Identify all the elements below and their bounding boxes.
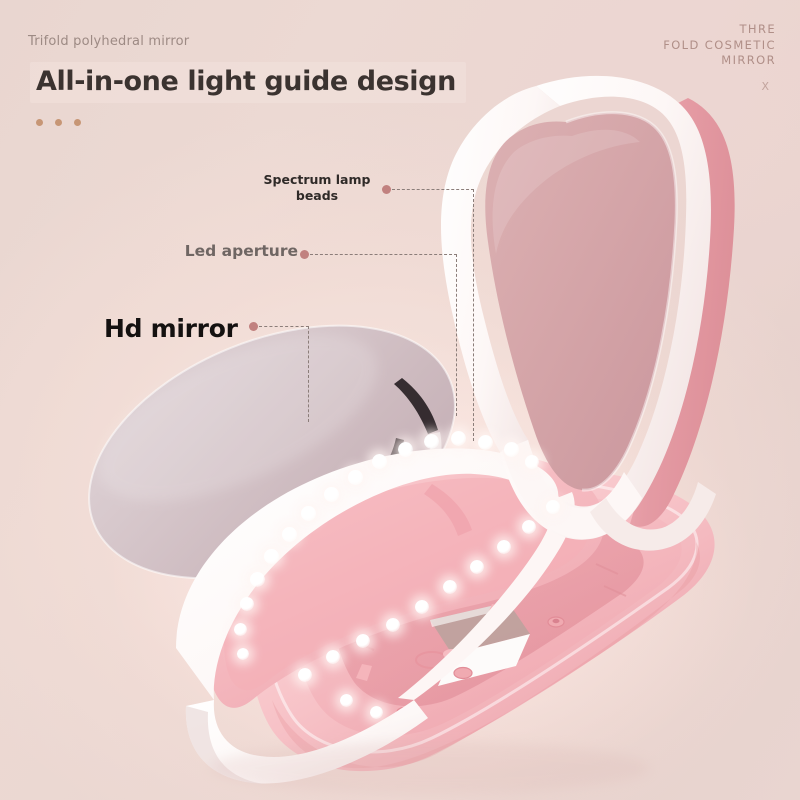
brand-x-mark: X xyxy=(761,80,770,93)
brand-line-1: THRE xyxy=(663,22,776,38)
led-bead xyxy=(372,454,387,469)
callout-dot-spectrum xyxy=(382,185,391,194)
page-title: All-in-one light guide design xyxy=(30,62,466,103)
callout-spectrum-lamp-beads: Spectrum lamp beads xyxy=(262,172,372,203)
brand-line-3: MIRROR xyxy=(663,53,776,69)
led-bead xyxy=(240,597,254,611)
led-bead xyxy=(370,706,383,719)
brand-mark: THRE FOLD COSMETIC MIRROR xyxy=(663,22,776,69)
callout-label-spectrum: Spectrum lamp beads xyxy=(262,172,372,203)
callout-hd-mirror: Hd mirror xyxy=(104,314,244,343)
brand-line-2: FOLD COSMETIC xyxy=(663,38,776,54)
led-bead xyxy=(386,618,400,632)
callout-dot-hd xyxy=(249,322,258,331)
led-bead xyxy=(348,470,363,485)
callout-label-hd: Hd mirror xyxy=(104,314,244,343)
leader-line-hd-v xyxy=(308,326,309,422)
led-bead xyxy=(264,549,279,564)
callout-dot-led xyxy=(300,250,309,259)
product-illustration xyxy=(0,0,800,800)
led-bead xyxy=(522,520,536,534)
led-bead xyxy=(424,434,439,449)
led-bead xyxy=(298,668,312,682)
led-bead xyxy=(478,435,493,450)
led-bead xyxy=(504,442,519,457)
led-bead xyxy=(497,540,511,554)
led-bead xyxy=(525,455,539,469)
led-bead xyxy=(340,694,353,707)
leader-line-spectrum-h xyxy=(392,189,474,190)
led-bead xyxy=(234,623,247,636)
led-bead xyxy=(282,527,297,542)
callout-led-aperture: Led aperture xyxy=(180,242,298,260)
led-bead xyxy=(237,648,249,660)
leader-line-led-h xyxy=(310,254,457,255)
led-bead xyxy=(326,650,340,664)
callout-label-led: Led aperture xyxy=(180,242,298,260)
led-bead xyxy=(301,506,316,521)
led-bead xyxy=(324,487,339,502)
product-hero-image: Spectrum lamp beads Led aperture Hd mirr… xyxy=(0,0,800,800)
led-bead xyxy=(546,500,560,514)
led-bead xyxy=(443,580,457,594)
decorative-dot xyxy=(55,119,62,126)
led-bead xyxy=(356,634,370,648)
led-bead xyxy=(470,560,484,574)
decorative-dot xyxy=(36,119,43,126)
led-bead xyxy=(398,442,413,457)
leader-line-spectrum-v xyxy=(473,189,474,441)
leader-line-hd-h xyxy=(259,326,309,327)
led-bead xyxy=(415,600,429,614)
kicker-text: Trifold polyhedral mirror xyxy=(28,34,189,49)
led-bead xyxy=(451,431,466,446)
led-bead xyxy=(250,572,265,587)
decorative-dot xyxy=(74,119,81,126)
decorative-dots xyxy=(36,119,81,126)
leader-line-led-v xyxy=(456,254,457,416)
